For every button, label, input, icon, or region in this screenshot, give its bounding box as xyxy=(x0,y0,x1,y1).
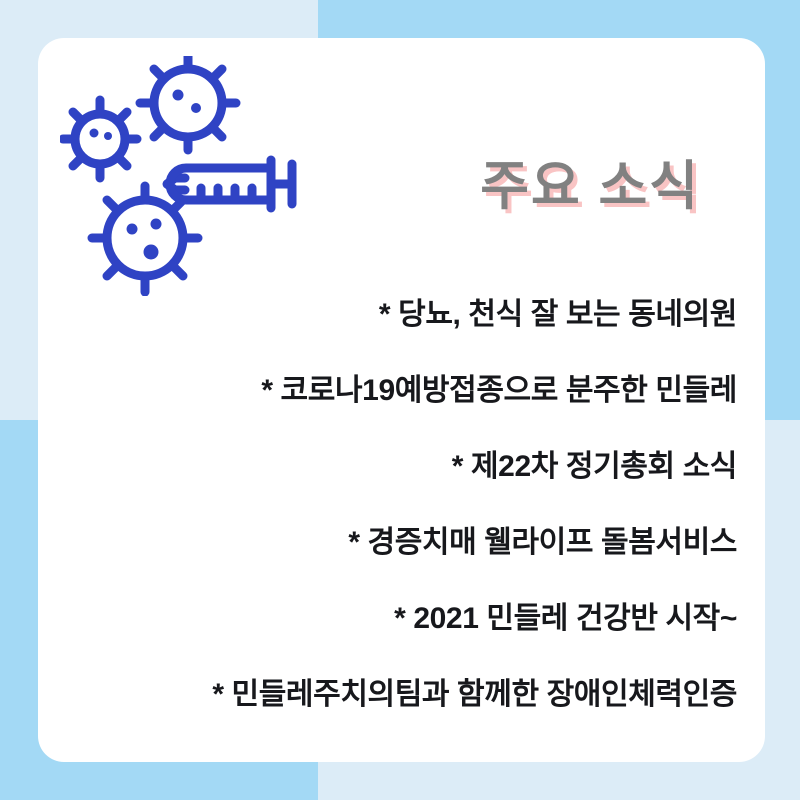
list-item: * 민들레주치의팀과 함께한 장애인체력인증 xyxy=(77,680,737,710)
news-list: * 당뇨, 천식 잘 보는 동네의원 * 코로나19예방접종으로 분주한 민들레… xyxy=(77,300,737,710)
virus-icon-small xyxy=(63,100,137,178)
content-card: 주요 소식 * 당뇨, 천식 잘 보는 동네의원 * 코로나19예방접종으로 분… xyxy=(38,38,765,762)
list-item: * 2021 민들레 건강반 시작~ xyxy=(77,604,737,634)
news-poster: 주요 소식 * 당뇨, 천식 잘 보는 동네의원 * 코로나19예방접종으로 분… xyxy=(0,0,800,800)
page-title: 주요 소식 xyxy=(480,160,700,213)
list-item: * 경증치매 웰라이프 돌봄서비스 xyxy=(77,528,737,558)
list-item: * 제22차 정기총회 소식 xyxy=(77,452,737,482)
syringe-icon xyxy=(167,160,292,208)
virus-and-syringe-illustration xyxy=(60,56,310,296)
virus-icon-medium xyxy=(140,56,236,150)
list-item: * 코로나19예방접종으로 분주한 민들레 xyxy=(77,376,737,406)
list-item: * 당뇨, 천식 잘 보는 동네의원 xyxy=(77,300,737,330)
